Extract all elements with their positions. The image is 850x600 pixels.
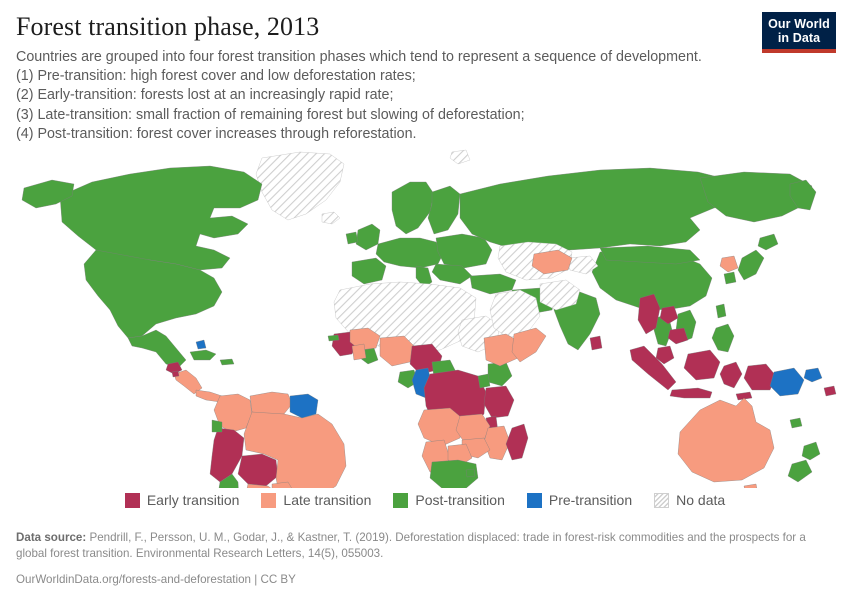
subtitle-line-2: (2) Early-transition: forests lost at an… [16,86,756,105]
region-new-caledonia[interactable] [790,418,802,428]
legend-swatch-early-icon [125,493,140,508]
legend-label-pre: Pre-transition [549,492,632,508]
region-japan[interactable] [738,250,764,280]
source-link[interactable]: OurWorldinData.org/forests-and-deforesta… [16,572,834,588]
region-new-zealand[interactable] [802,442,820,460]
region-hispaniola[interactable] [220,359,234,365]
legend-swatch-nodata-icon [654,493,669,508]
region-western-europe[interactable] [376,238,444,268]
legend-swatch-post-icon [393,493,408,508]
subtitle-line-1: (1) Pre-transition: high forest cover an… [16,67,756,86]
chart-page: Forest transition phase, 2013 Countries … [0,0,850,600]
legend-item-post[interactable]: Post-transition [393,492,504,508]
region-turkey[interactable] [470,274,516,294]
region-el-salvador[interactable] [172,371,179,377]
legend-swatch-pre-icon [527,493,542,508]
legend-item-late[interactable]: Late transition [261,492,371,508]
subtitle-line-3: (3) Late-transition: small fraction of r… [16,106,756,125]
region-cuba-caribbean[interactable] [190,350,216,360]
region-zambia[interactable] [456,414,490,442]
region-svalbard[interactable] [450,150,470,164]
region-java[interactable] [670,388,712,398]
region-british-isles[interactable] [356,224,380,250]
region-cote-divoire[interactable] [352,344,366,360]
data-source-prefix: Data source: [16,531,86,544]
region-swaziland-lesotho[interactable] [466,469,475,477]
owid-logo[interactable]: Our World in Data [762,12,836,53]
region-iceland-area[interactable] [322,212,340,224]
region-guyanas[interactable] [290,394,318,418]
region-mozambique[interactable] [484,426,510,460]
region-greenland[interactable] [256,152,344,220]
region-sulawesi[interactable] [720,362,742,388]
region-solomon-islands[interactable] [804,368,822,382]
chart-footer: Data source: Pendrill, F., Persson, U. M… [16,530,834,588]
legend-label-nodata: No data [676,492,725,508]
region-scandinavia[interactable] [392,182,434,234]
region-finland-baltics[interactable] [428,186,460,234]
region-canada[interactable] [60,166,262,270]
legend-item-pre[interactable]: Pre-transition [527,492,632,508]
legend-label-post: Post-transition [415,492,504,508]
data-source-line: Data source: Pendrill, F., Persson, U. M… [16,530,806,562]
page-title: Forest transition phase, 2013 [16,12,834,42]
region-madagascar[interactable] [506,424,528,460]
map-legend: Early transition Late transition Post-tr… [0,492,850,508]
legend-item-nodata[interactable]: No data [654,492,725,508]
owid-logo-line1: Our World [762,17,836,31]
legend-label-late: Late transition [283,492,371,508]
region-ireland[interactable] [346,232,358,244]
region-bahamas[interactable] [196,340,206,349]
region-tasmania[interactable] [744,484,758,488]
region-sri-lanka[interactable] [590,336,602,350]
owid-logo-line2: in Data [762,31,836,45]
region-gambia[interactable] [328,335,339,341]
region-bolivia[interactable] [238,454,278,486]
region-uganda-rwanda[interactable] [478,374,490,388]
region-papua-new-guinea[interactable] [770,368,804,396]
region-fiji-vanuatu[interactable] [824,386,836,396]
region-somalia[interactable] [512,328,546,362]
legend-item-early[interactable]: Early transition [125,492,240,508]
subtitle-line-0: Countries are grouped into four forest t… [16,48,756,67]
region-iberia[interactable] [352,258,386,284]
data-source-text: Pendrill, F., Persson, U. M., Godar, J.,… [16,531,806,560]
region-taiwan[interactable] [716,304,726,318]
region-ecuador[interactable] [212,420,222,432]
region-philippines[interactable] [712,324,734,352]
region-south-korea[interactable] [724,272,736,284]
legend-label-early: Early transition [147,492,240,508]
chart-subtitle: Countries are grouped into four forest t… [16,48,756,144]
chart-header: Forest transition phase, 2013 Countries … [16,12,834,144]
region-north-korea[interactable] [720,256,738,272]
world-choropleth-map[interactable] [0,138,850,488]
region-borneo[interactable] [684,350,720,380]
legend-swatch-late-icon [261,493,276,508]
region-new-zealand-south[interactable] [788,460,812,482]
region-tanzania[interactable] [484,386,514,418]
map-regions [22,150,836,488]
region-australia[interactable] [678,398,774,482]
region-japan-north[interactable] [758,234,778,250]
